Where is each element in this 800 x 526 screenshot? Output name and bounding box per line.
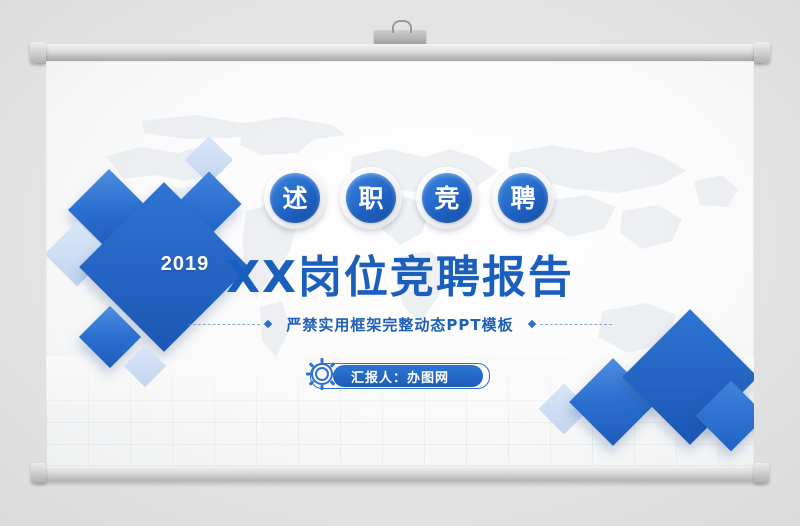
presenter-pill: 汇报人：办图网 xyxy=(310,363,490,389)
badge-pin-label: 聘 xyxy=(498,173,548,223)
badge-shu-label: 述 xyxy=(270,173,320,223)
badge-jing: 竞 xyxy=(416,167,478,229)
slide-canvas: 2019 述 职 竞 聘 XX岗位竞聘报告 严禁实用框架完整动态PPT模板 xyxy=(46,61,754,466)
badge-shu: 述 xyxy=(264,167,326,229)
screenshot-stage: 2019 述 职 竞 聘 XX岗位竞聘报告 严禁实用框架完整动态PPT模板 xyxy=(0,0,800,526)
screen-bottom-cap-left xyxy=(31,463,46,483)
screen-top-cap-left xyxy=(30,42,46,63)
presenter-row: 汇报人：办图网 xyxy=(46,359,754,393)
slide-title: XX岗位竞聘报告 xyxy=(46,241,754,305)
badge-row: 述 职 竞 聘 xyxy=(264,165,554,231)
screen-bottom-cap-right xyxy=(754,463,769,483)
badge-jing-label: 竞 xyxy=(422,173,472,223)
badge-zhi: 职 xyxy=(340,167,402,229)
subtitle-rule-left xyxy=(188,324,260,325)
badge-zhi-label: 职 xyxy=(346,173,396,223)
subtitle-row: 严禁实用框架完整动态PPT模板 xyxy=(46,313,754,335)
screen-bottom-bar xyxy=(36,466,764,481)
subtitle-diamond-right xyxy=(527,320,535,328)
badge-pin: 聘 xyxy=(492,167,554,229)
slide-subtitle: 严禁实用框架完整动态PPT模板 xyxy=(276,314,523,335)
subtitle-rule-right xyxy=(540,324,612,325)
screen-hanger xyxy=(374,30,426,45)
subtitle-diamond-left xyxy=(264,320,272,328)
presenter-label: 汇报人：办图网 xyxy=(351,367,449,386)
screen-top-cap-right xyxy=(754,42,770,63)
screen-top-bar xyxy=(36,44,764,61)
